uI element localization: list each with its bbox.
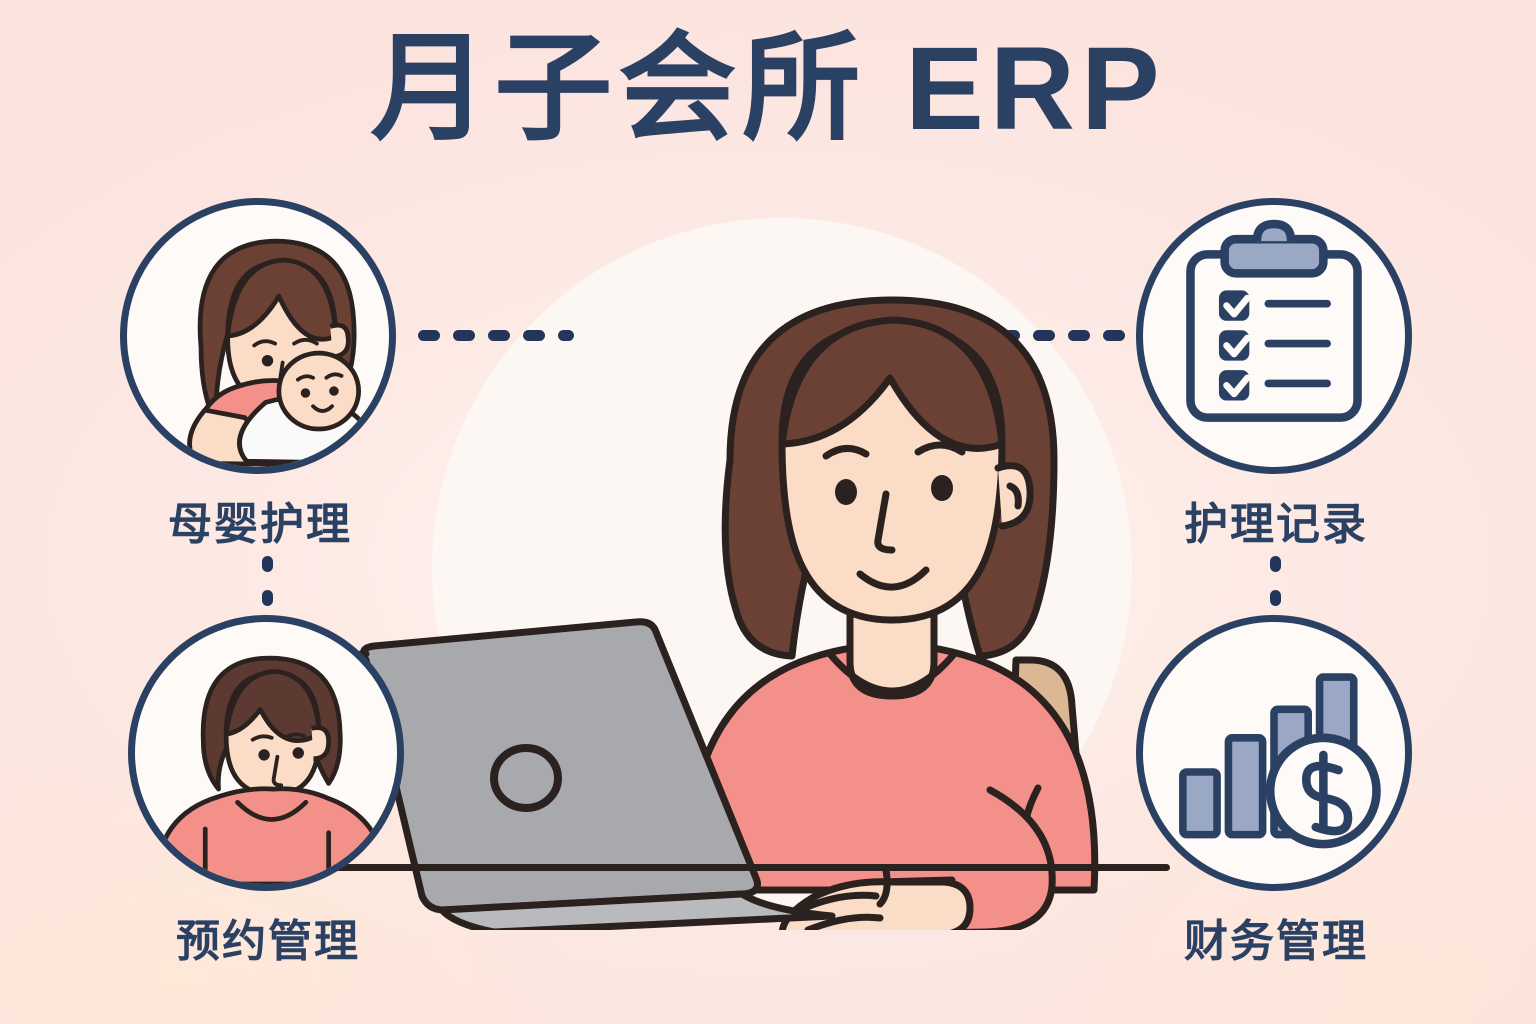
dot-segment — [262, 590, 273, 606]
feature-icon-disc — [128, 615, 404, 891]
feature-financial-management[interactable]: 财务管理 — [1136, 615, 1416, 969]
connector-dots-right — [1270, 556, 1281, 606]
mother-holding-baby-icon — [127, 205, 389, 467]
center-illustration — [330, 230, 1210, 930]
feature-appointment-management[interactable]: 预约管理 — [128, 615, 408, 969]
person-portrait-icon — [135, 622, 397, 884]
feature-label: 财务管理 — [1136, 905, 1416, 969]
feature-label: 护理记录 — [1136, 488, 1416, 552]
poster-canvas: 月子会所 ERP — [0, 0, 1536, 1024]
eye-left — [835, 479, 857, 505]
bar-2 — [1228, 738, 1262, 835]
feature-icon-disc — [120, 198, 396, 474]
clipboard-checklist-icon — [1143, 205, 1405, 467]
bar-chart-dollar-icon — [1143, 622, 1405, 884]
connector-dots-left — [262, 556, 273, 606]
woman-head — [725, 300, 1054, 656]
eye-right — [931, 475, 953, 501]
page-title: 月子会所 ERP — [0, 22, 1536, 158]
dot-segment — [1270, 556, 1281, 572]
feature-label: 母婴护理 — [120, 488, 400, 552]
feature-maternal-infant-care[interactable]: 母婴护理 — [120, 198, 400, 552]
feature-icon-disc — [1136, 615, 1412, 891]
bar-1 — [1183, 772, 1217, 835]
feature-nursing-records[interactable]: 护理记录 — [1136, 198, 1416, 552]
dot-segment — [1270, 590, 1281, 606]
dot-segment — [262, 556, 273, 572]
desk-surface-line — [330, 864, 1170, 871]
feature-label: 预约管理 — [128, 905, 408, 969]
feature-icon-disc — [1136, 198, 1412, 474]
